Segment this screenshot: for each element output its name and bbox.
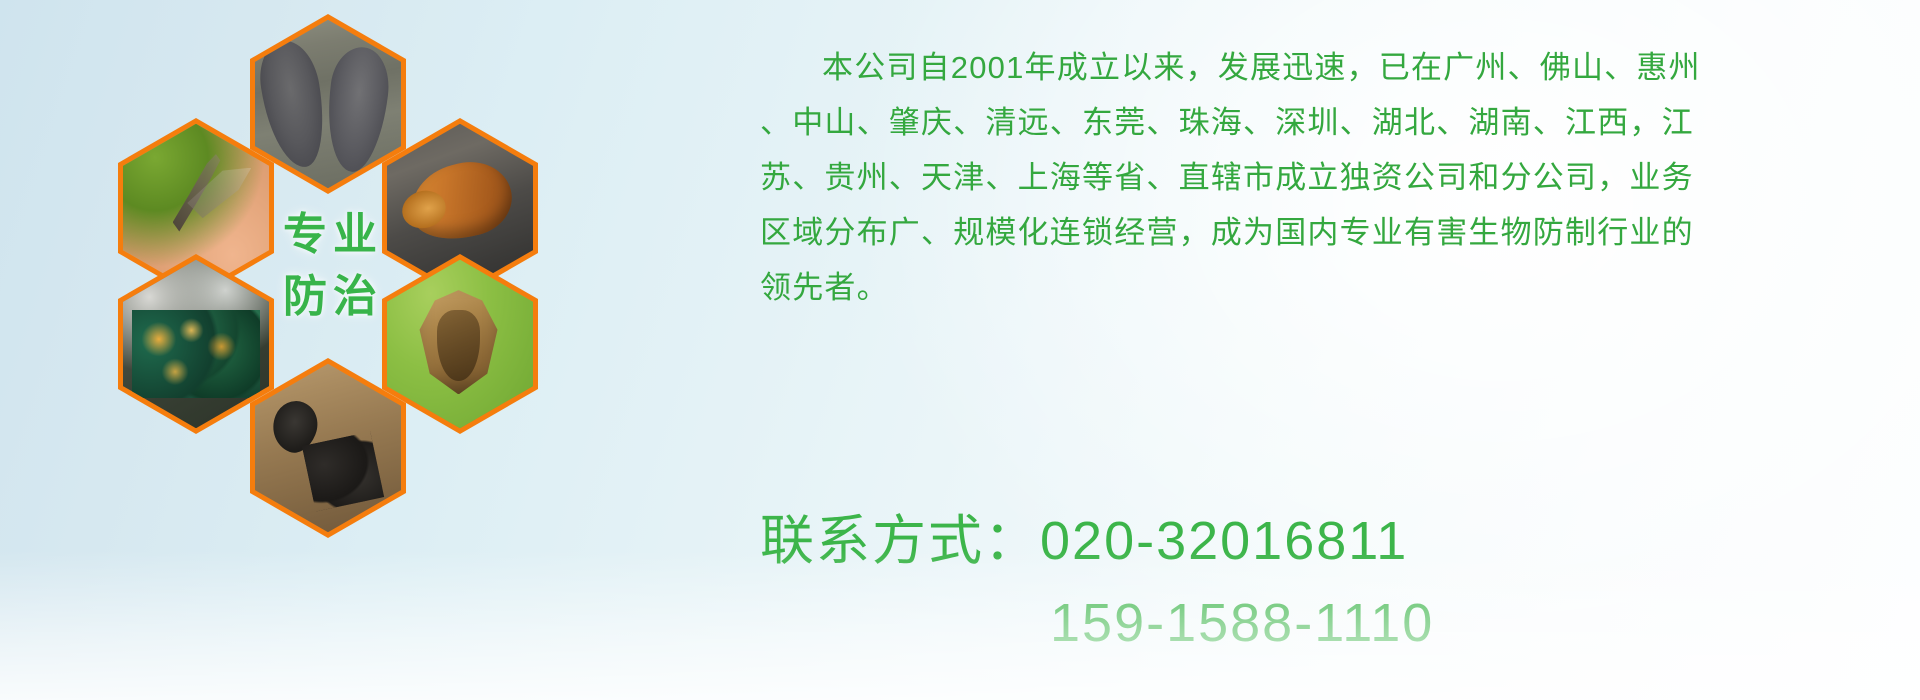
description-line-4: 区域分布广、规模化连锁经营，成为国内专业有害生物防制行业的 xyxy=(760,205,1900,260)
honeycomb-image-cluster: 专业 防治 xyxy=(90,14,590,559)
honeycomb-cell-flies-photo xyxy=(123,260,269,428)
flies-photo-art xyxy=(123,260,269,428)
contact-mobile[interactable]: 159-1588-1110 xyxy=(760,582,1900,664)
contact-landline[interactable]: 联系方式：020-32016811 xyxy=(760,500,1900,582)
honeycomb-caption-line-2: 防治 xyxy=(258,266,408,328)
stink-bug-photo-art xyxy=(387,260,533,428)
rats-photo-art xyxy=(255,20,401,188)
honeycomb-cell-ants-photo xyxy=(255,364,401,532)
description-line-5: 领先者。 xyxy=(760,260,1900,315)
promo-banner: 专业 防治 本公司自2001年成立以来，发展迅速，已在广州、佛山、惠州 、中山、… xyxy=(0,0,1920,700)
honeycomb-cell-rats-photo xyxy=(255,20,401,188)
honeycomb-caption: 专业 防治 xyxy=(258,204,408,328)
ants-photo-art xyxy=(255,364,401,532)
honeycomb-cell-stink-bug-photo xyxy=(387,260,533,428)
honeycomb-caption-line-1: 专业 xyxy=(258,204,408,266)
description-line-2: 、中山、肇庆、清远、东莞、珠海、深圳、湖北、湖南、江西，江 xyxy=(760,95,1900,150)
description-line-1: 本公司自2001年成立以来，发展迅速，已在广州、佛山、惠州 xyxy=(760,40,1900,95)
contact-block: 联系方式：020-32016811 159-1588-1110 xyxy=(760,500,1900,664)
description-line-3: 苏、贵州、天津、上海等省、直辖市成立独资公司和分公司，业务 xyxy=(760,150,1900,205)
company-description: 本公司自2001年成立以来，发展迅速，已在广州、佛山、惠州 、中山、肇庆、清远、… xyxy=(760,40,1900,315)
